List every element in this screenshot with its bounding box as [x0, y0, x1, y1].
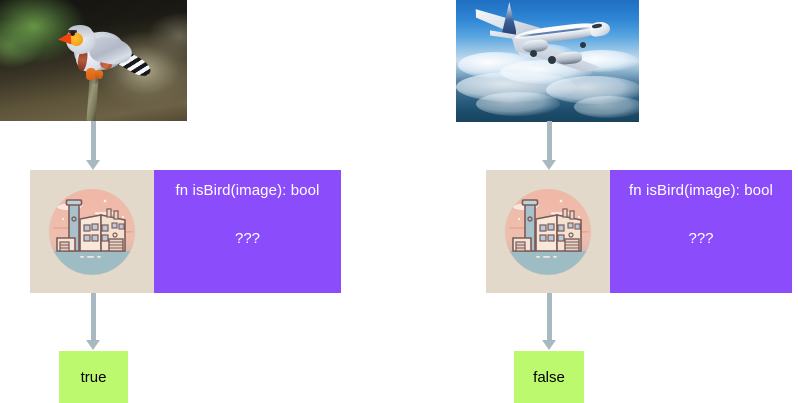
function-node-plane[interactable]: fn isBird(image): bool ???: [486, 170, 792, 293]
arrow-head: [86, 160, 100, 170]
arrow-shaft: [547, 293, 552, 340]
arrow-shaft: [91, 121, 96, 160]
airplane-landing-gear: [580, 42, 586, 48]
result-label: true: [81, 369, 107, 386]
function-node-bird[interactable]: fn isBird(image): bool ???: [30, 170, 341, 293]
arrow-function-to-result-true: [83, 293, 103, 351]
arrow-bird-to-function: [83, 121, 103, 170]
arrow-head: [542, 340, 556, 350]
bird-beak: [58, 33, 72, 46]
function-node-body: fn isBird(image): bool ???: [154, 170, 341, 293]
function-signature: fn isBird(image): bool: [629, 182, 773, 200]
zebra-finch-photo: [0, 0, 187, 121]
airplane-landing-gear: [530, 50, 537, 57]
result-box-true: true: [59, 351, 128, 403]
bird-perch-branch: [86, 78, 98, 121]
arrow-plane-to-function: [539, 121, 559, 170]
arrow-head: [86, 340, 100, 350]
result-box-false: false: [514, 351, 584, 403]
result-label: false: [533, 369, 565, 386]
arrow-shaft: [91, 293, 96, 340]
airplane-landing-gear: [548, 56, 556, 64]
function-node-icon-cell: [30, 170, 154, 293]
function-unknown-label: ???: [235, 230, 260, 247]
cloud: [476, 92, 560, 116]
factory-icon: [495, 179, 601, 285]
arrow-head: [542, 160, 556, 170]
function-signature: fn isBird(image): bool: [176, 182, 320, 200]
factory-icon: [39, 179, 145, 285]
diagram-canvas: fn isBird(image): bool ??? true: [0, 0, 798, 403]
airplane-photo: [456, 0, 639, 122]
arrow-shaft: [547, 121, 552, 160]
bird-leg-secondary: [94, 69, 104, 80]
function-node-body: fn isBird(image): bool ???: [610, 170, 792, 293]
function-node-icon-cell: [486, 170, 610, 293]
function-unknown-label: ???: [688, 230, 713, 247]
arrow-function-to-result-false: [539, 293, 559, 351]
cloud: [574, 96, 639, 118]
